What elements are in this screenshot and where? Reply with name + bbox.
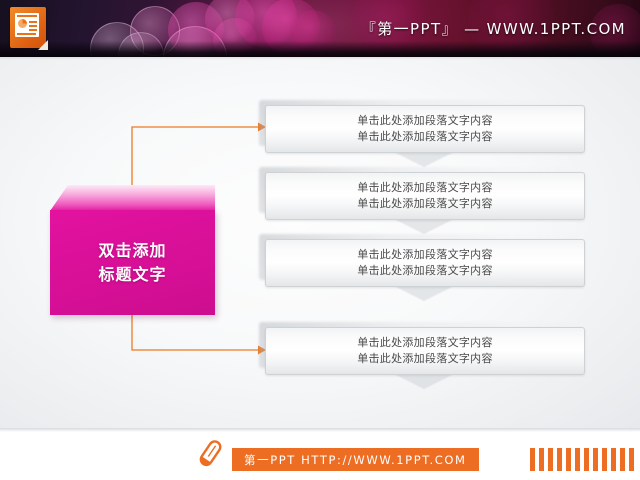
footer-url-label: 第一PPT HTTP://WWW.1PPT.COM	[232, 448, 479, 471]
footer-stripe	[557, 448, 562, 471]
content-bar-3[interactable]: 单击此处添加段落文字内容 单击此处添加段落文字内容	[265, 239, 585, 287]
content-bar-1-line-2: 单击此处添加段落文字内容	[357, 129, 493, 145]
footer-stripe	[602, 448, 607, 471]
header-title: 『第一PPT』 — WWW.1PPT.COM	[361, 18, 626, 39]
title-cube[interactable]: 双击添加 标题文字	[50, 185, 215, 315]
bar-notch	[394, 152, 454, 167]
footer-stripe	[530, 448, 535, 471]
footer-stripe	[548, 448, 553, 471]
footer-stripe	[611, 448, 616, 471]
slide-canvas: 『第一PPT』 — WWW.1PPT.COM	[0, 0, 640, 480]
footer-stripe	[620, 448, 625, 471]
pencil-icon	[195, 437, 225, 471]
title-line-1: 双击添加	[98, 239, 166, 262]
content-bar-4-line-2: 单击此处添加段落文字内容	[357, 351, 493, 367]
content-bar-3-line-1: 单击此处添加段落文字内容	[357, 247, 493, 263]
footer-stripe	[629, 448, 634, 471]
content-bar-4-line-1: 单击此处添加段落文字内容	[357, 335, 493, 351]
footer-stripe	[575, 448, 580, 471]
diagram-area: 双击添加 标题文字 单击此处添加段落文字内容 单击此处添加段落文字内容 单击此处…	[0, 57, 640, 428]
content-bar-1[interactable]: 单击此处添加段落文字内容 单击此处添加段落文字内容	[265, 105, 585, 153]
powerpoint-icon	[8, 6, 48, 50]
content-bar-3-line-2: 单击此处添加段落文字内容	[357, 263, 493, 279]
footer-stripe	[593, 448, 598, 471]
footer-stripe	[566, 448, 571, 471]
content-bar-2[interactable]: 单击此处添加段落文字内容 单击此处添加段落文字内容	[265, 172, 585, 220]
footer-divider	[0, 428, 640, 432]
content-bar-1-line-1: 单击此处添加段落文字内容	[357, 113, 493, 129]
footer-stripes	[530, 448, 640, 471]
content-bar-4[interactable]: 单击此处添加段落文字内容 单击此处添加段落文字内容	[265, 327, 585, 375]
footer-stripe	[539, 448, 544, 471]
title-line-2: 标题文字	[98, 263, 166, 286]
bar-notch	[394, 286, 454, 301]
cube-top-face	[50, 185, 215, 211]
title-cube-label: 双击添加 标题文字	[50, 210, 215, 315]
content-bar-2-line-1: 单击此处添加段落文字内容	[357, 180, 493, 196]
footer-stripe	[584, 448, 589, 471]
content-bar-2-line-2: 单击此处添加段落文字内容	[357, 196, 493, 212]
bar-notch	[394, 374, 454, 389]
header-bottom-fade	[0, 41, 640, 57]
slide-header-banner: 『第一PPT』 — WWW.1PPT.COM	[0, 0, 640, 57]
bar-notch	[394, 219, 454, 234]
